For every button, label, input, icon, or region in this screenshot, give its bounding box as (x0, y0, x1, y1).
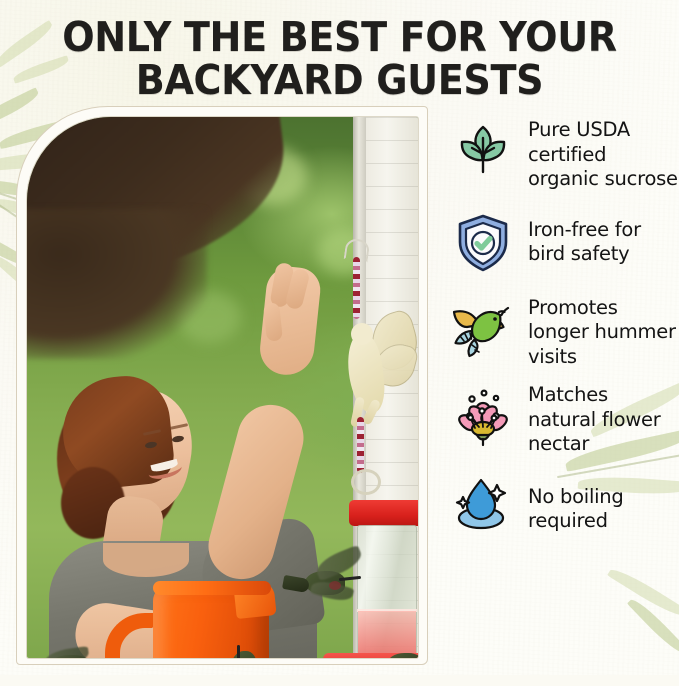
fairy-ornament (345, 315, 407, 425)
feeder-cap (349, 500, 418, 526)
flower-icon (450, 383, 516, 449)
hummingbird-perched (377, 641, 418, 658)
hummingbird-body (231, 651, 257, 658)
hummingbird-body (387, 653, 418, 658)
pitcher-rim (153, 581, 271, 595)
infographic-canvas: ONLY THE BEST FOR YOUR BACKYARD GUESTS (0, 0, 679, 675)
feature-iron-free-bird-safety: Iron-free for bird safety (450, 210, 679, 276)
hummingbird-perched (33, 645, 111, 658)
feature-label: Matches natural flower nectar (528, 383, 679, 457)
product-lifestyle-photo (27, 117, 418, 658)
feature-label: Pure USDA certified organic sucrose (528, 118, 679, 192)
headline-line-2: BACKYARD GUESTS (24, 59, 655, 102)
hummingbird-wing (44, 646, 90, 658)
page-title: ONLY THE BEST FOR YOUR BACKYARD GUESTS (24, 16, 655, 102)
ornament-bead-chain-bottom (357, 417, 364, 473)
water-drop-icon (450, 471, 516, 537)
hummingbird-flying (285, 557, 363, 611)
hummingbird-icon (450, 296, 516, 362)
headline-line-1: ONLY THE BEST FOR YOUR (62, 13, 617, 61)
fairy-head (351, 323, 373, 345)
feature-list: Pure USDA certified organic sucrose Iron… (450, 118, 679, 549)
hummingbird-throat (329, 581, 341, 590)
feature-label: No boiling required (528, 471, 679, 534)
hummingbird-perched (223, 643, 269, 658)
feature-no-boiling-required: No boiling required (450, 471, 679, 537)
feature-label: Iron-free for bird safety (528, 210, 679, 267)
leaf-icon (450, 118, 516, 184)
ornament-bead-chain-top (353, 257, 360, 319)
photo-content (27, 117, 418, 658)
feature-label: Promotes longer hummer visits (528, 296, 679, 370)
shield-check-icon (450, 210, 516, 276)
tree-canopy-lower (27, 209, 207, 359)
feature-usda-organic-sucrose: Pure USDA certified organic sucrose (450, 118, 679, 192)
feature-longer-hummer-visits: Promotes longer hummer visits (450, 296, 679, 370)
ornament-ring (351, 469, 381, 495)
hummingbird-beak (237, 645, 240, 658)
feature-matches-flower-nectar: Matches natural flower nectar (450, 383, 679, 457)
